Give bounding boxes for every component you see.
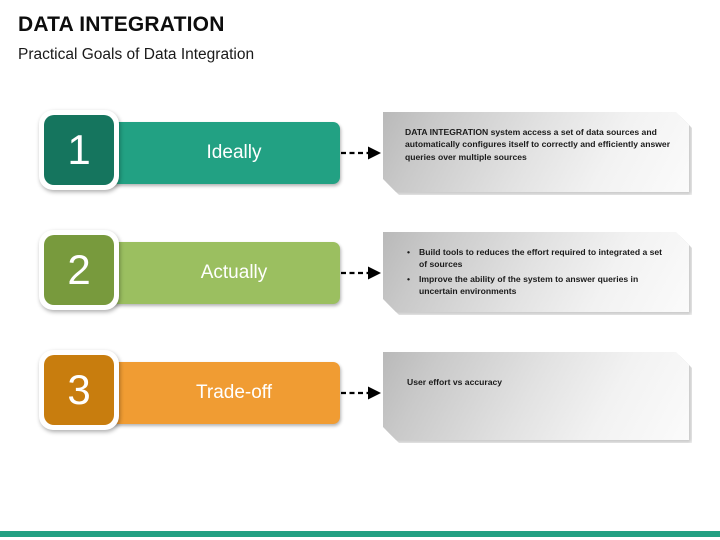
panel-paragraph-1: DATA INTEGRATION system access a set of … (405, 126, 671, 163)
number-text-1: 1 (67, 128, 90, 172)
list-item: • Improve the ability of the system to a… (405, 273, 671, 298)
description-panel-2: • Build tools to reduces the effort requ… (383, 232, 689, 312)
footer-accent-bar (0, 531, 720, 537)
panel-bullet-list-2: • Build tools to reduces the effort requ… (405, 246, 671, 298)
process-rows: Ideally 1 DATA INTEGRATION system access… (0, 0, 720, 540)
bullet-glyph: • (407, 273, 410, 285)
number-box-1[interactable]: 1 (39, 110, 119, 190)
number-box-inner-2: 2 (44, 235, 114, 305)
bullet-glyph: • (407, 246, 410, 258)
dashed-arrow-icon (340, 264, 382, 282)
list-item: • Build tools to reduces the effort requ… (405, 246, 671, 271)
description-panel-1: DATA INTEGRATION system access a set of … (383, 112, 689, 192)
number-box-3[interactable]: 3 (39, 350, 119, 430)
dashed-arrow-icon (340, 144, 382, 162)
number-box-inner-3: 3 (44, 355, 114, 425)
description-panel-3: User effort vs accuracy (383, 352, 689, 440)
label-text-3: Trade-off (196, 382, 272, 404)
list-item-text: Build tools to reduces the effort requir… (419, 247, 662, 269)
process-row-3: Trade-off 3 User effort vs accuracy (0, 348, 720, 448)
label-text-2: Actually (201, 262, 268, 284)
process-row-1: Ideally 1 DATA INTEGRATION system access… (0, 108, 720, 208)
number-box-2[interactable]: 2 (39, 230, 119, 310)
label-text-1: Ideally (207, 142, 262, 164)
number-box-inner-1: 1 (44, 115, 114, 185)
panel-paragraph-3: User effort vs accuracy (405, 376, 671, 388)
dashed-arrow-icon (340, 384, 382, 402)
number-text-2: 2 (67, 248, 90, 292)
process-row-2: Actually 2 • Build tools to reduces the … (0, 228, 720, 328)
list-item-text: Improve the ability of the system to ans… (419, 274, 638, 296)
number-text-3: 3 (67, 368, 90, 412)
